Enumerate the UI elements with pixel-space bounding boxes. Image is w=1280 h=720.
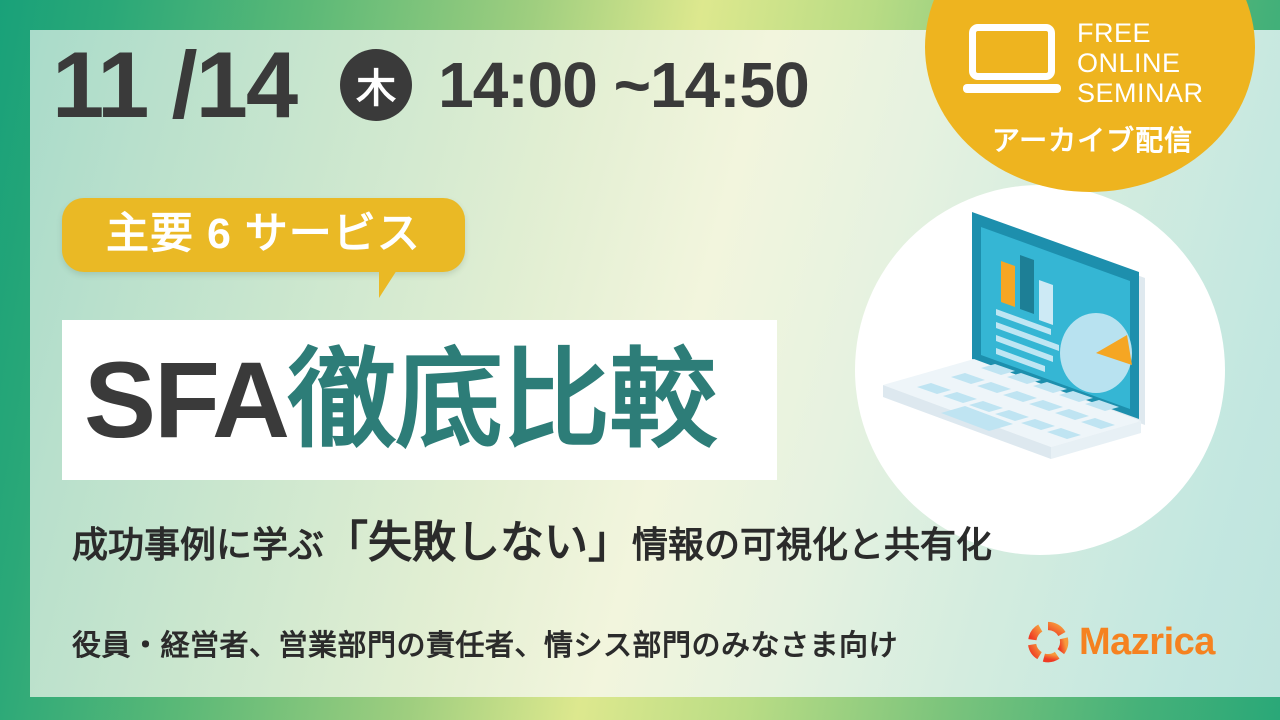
subtitle: 成功事例に学ぶ 「失敗しない」 情報の可視化と共有化 [72,506,992,570]
mazrica-wordmark: Mazrica [1079,623,1215,661]
title-english: SFA [84,346,288,454]
badge-line-free: FREE [1077,18,1247,48]
badge-japanese-label: アーカイブ配信 [965,119,1220,159]
laptop-icon-screen [969,24,1055,80]
subtitle-lead: 成功事例に学ぶ [72,516,324,568]
laptop-icon [963,24,1061,94]
subtitle-emphasis: 「失敗しない」 [324,506,632,570]
isometric-laptop-illustration [855,185,1225,555]
weekday-badge: 木 [340,49,412,121]
bubble-label: 主要 6 サービス [106,210,421,258]
main-title-band: SFA 徹底比較 [62,320,777,480]
badge-line-online: ONLINE [1077,48,1247,78]
title-japanese: 徹底比較 [288,346,716,454]
date-time-row: 11 /14 木 14:00 ~14:50 [52,38,809,132]
badge-line-seminar: SEMINAR [1077,78,1247,108]
laptop-icon-base [963,84,1061,93]
subtitle-tail: 情報の可視化と共有化 [632,516,992,568]
badge-inner: FREE ONLINE SEMINAR アーカイブ配信 [925,0,1255,192]
mazrica-logo: Mazrica [1026,620,1215,664]
time-range: 14:00 ~14:50 [438,53,809,117]
free-online-seminar-badge: FREE ONLINE SEMINAR アーカイブ配信 [925,0,1255,192]
date-value: 11 /14 [52,38,296,132]
audience-line: 役員・経営者、営業部門の責任者、情シス部門のみなさま向け [72,622,898,664]
badge-english-text: FREE ONLINE SEMINAR [1077,18,1247,108]
bubble-body: 主要 6 サービス [62,198,465,272]
service-count-bubble: 主要 6 サービス [62,198,465,272]
mazrica-ring-icon [1026,620,1070,664]
bubble-tail-icon [379,270,419,298]
seminar-banner: 11 /14 木 14:00 ~14:50 主要 6 サービス SFA 徹底比較… [0,0,1280,720]
